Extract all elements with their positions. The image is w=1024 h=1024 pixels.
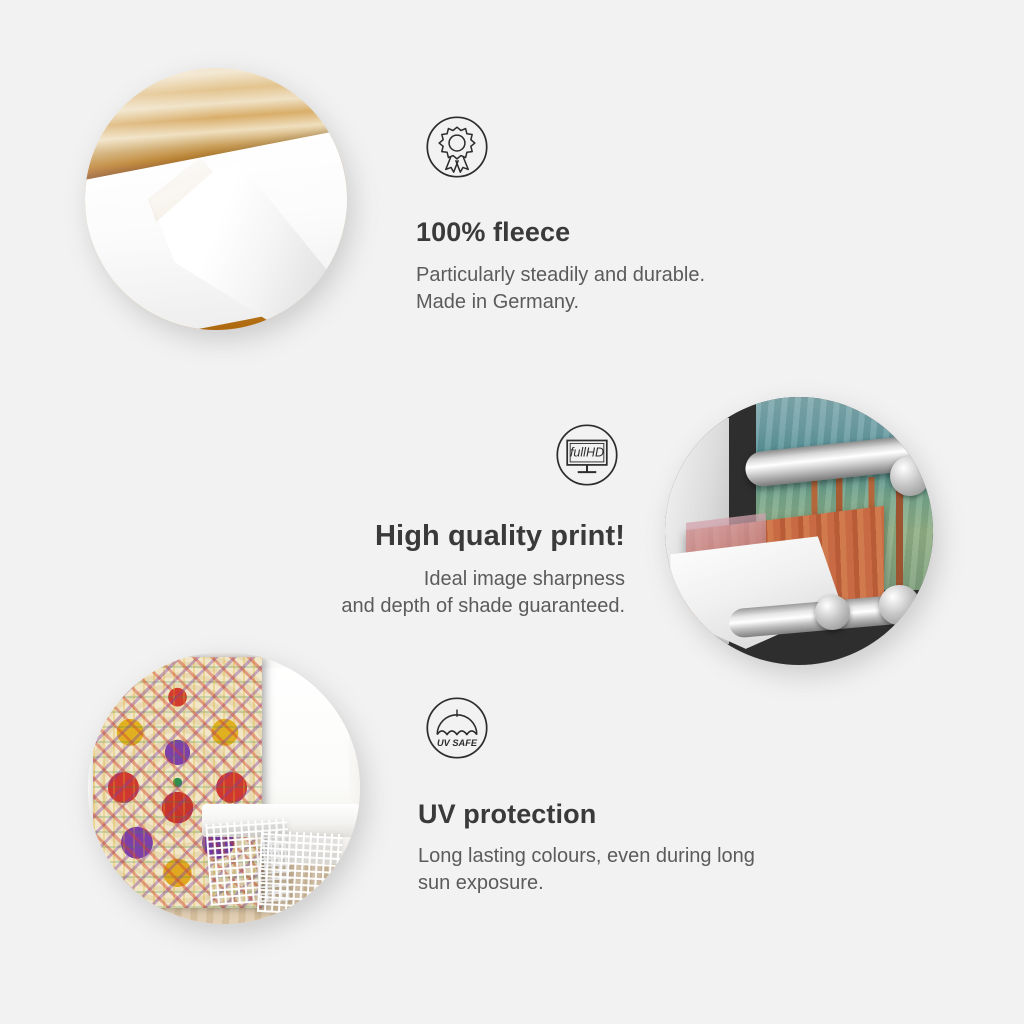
feature-print-body-line2: and depth of shade guaranteed. <box>341 595 625 617</box>
printer-knob-center <box>815 595 850 630</box>
feature-print: High quality print! Ideal image sharpnes… <box>195 518 625 620</box>
fullhd-monitor-icon: fullHD <box>554 422 620 488</box>
wallpaper-peel-photo <box>85 68 347 330</box>
fullhd-icon-label: fullHD <box>570 445 604 459</box>
feature-fleece-headline: 100% fleece <box>416 215 846 249</box>
feature-fleece-body-line2: Made in Germany. <box>416 291 579 313</box>
printer-knob-lower-right <box>879 585 919 625</box>
feature-uv-body-line2: sun exposure. <box>418 872 544 894</box>
feature-uv: UV protection Long lasting colours, even… <box>418 797 858 897</box>
feature-uv-headline: UV protection <box>418 797 858 831</box>
feature-print-body-line1: Ideal image sharpness <box>424 568 625 590</box>
uv-safe-umbrella-icon: UV SAFE <box>424 695 490 761</box>
infographic-stage: 100% fleece Particularly steadily and du… <box>0 0 1024 1024</box>
feature-print-body: Ideal image sharpness and depth of shade… <box>195 566 625 620</box>
wire-mesh-chair-right <box>257 829 343 915</box>
mandala-wallpaper-room-photo <box>88 652 360 924</box>
feature-fleece-body-line1: Particularly steadily and durable. <box>416 264 705 286</box>
feature-fleece-body: Particularly steadily and durable. Made … <box>416 262 846 316</box>
feature-print-headline: High quality print! <box>195 518 625 554</box>
feature-uv-body-line1: Long lasting colours, even during long <box>418 845 755 867</box>
award-ribbon-icon <box>424 114 490 180</box>
feature-fleece: 100% fleece Particularly steadily and du… <box>416 215 846 316</box>
uv-safe-icon-label: UV SAFE <box>437 738 478 748</box>
large-format-printer-photo <box>665 397 933 665</box>
feature-uv-body: Long lasting colours, even during long s… <box>418 843 858 897</box>
